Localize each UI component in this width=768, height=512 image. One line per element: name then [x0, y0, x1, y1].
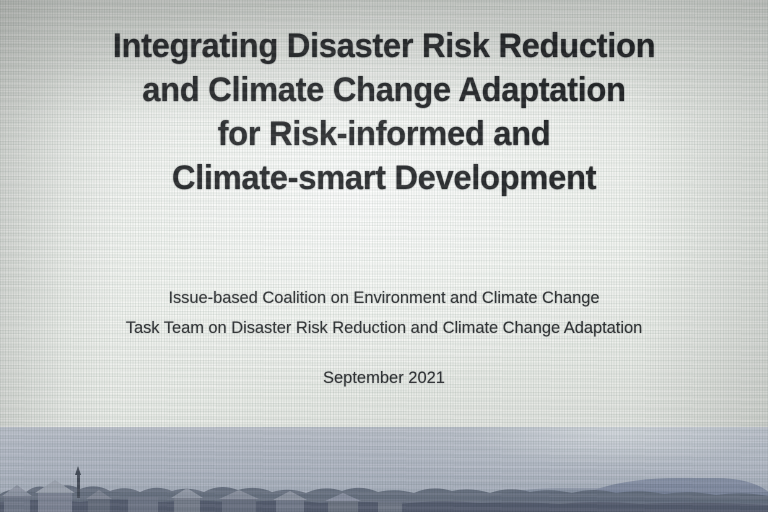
title-line-1: Integrating Disaster Risk Reduction — [13, 24, 754, 68]
title-line-4: Climate-smart Development — [13, 156, 754, 200]
roof — [86, 487, 112, 499]
subtitle-line-2: Task Team on Disaster Risk Reduction and… — [0, 313, 768, 343]
roof — [273, 488, 307, 500]
town-buildings — [0, 466, 420, 512]
title-line-3: for Risk-informed and — [13, 112, 754, 156]
building — [174, 498, 200, 512]
title-line-2: and Climate Change Adaptation — [13, 68, 754, 112]
cover-title: Integrating Disaster Risk Reduction and … — [0, 24, 768, 200]
cover-date: September 2021 — [0, 369, 768, 388]
roof — [125, 491, 161, 497]
roof — [35, 477, 75, 493]
building — [378, 502, 402, 512]
building — [222, 499, 256, 512]
cover-subtitle: Issue-based Coalition on Environment and… — [0, 283, 768, 343]
roof — [171, 485, 203, 498]
building — [328, 501, 358, 512]
cover-landscape-photo — [0, 427, 768, 512]
church-steeple-icon — [77, 474, 80, 498]
subtitle-line-1: Issue-based Coalition on Environment and… — [0, 283, 768, 313]
building — [4, 496, 30, 512]
roof — [219, 487, 259, 499]
roof — [325, 490, 361, 501]
building — [128, 497, 158, 512]
building — [38, 493, 72, 512]
date-text: September 2021 — [323, 369, 445, 387]
building — [276, 500, 304, 512]
roof — [2, 482, 32, 496]
screen-photograph: Integrating Disaster Risk Reduction and … — [0, 0, 768, 512]
building — [88, 499, 110, 512]
